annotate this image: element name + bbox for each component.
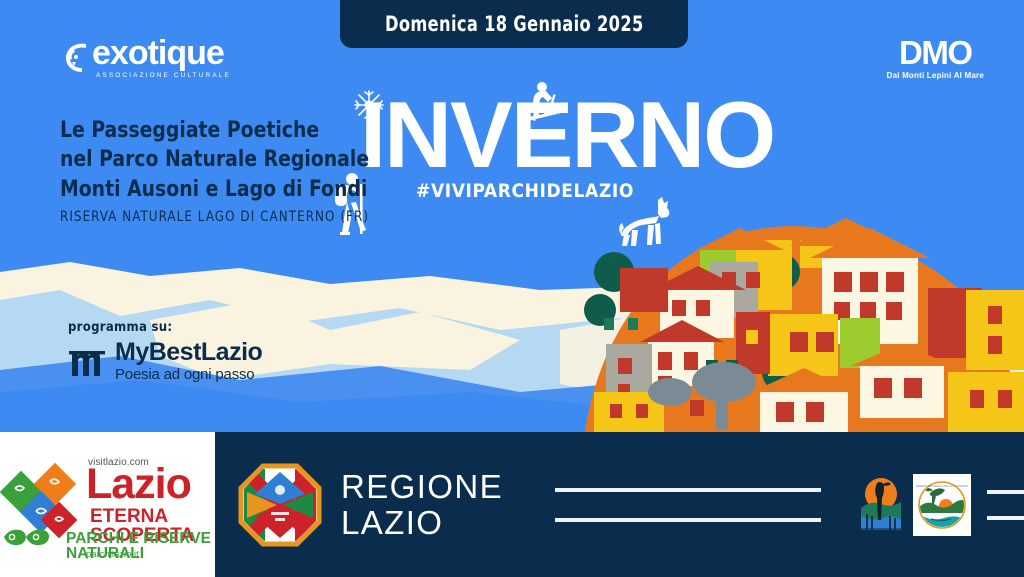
footer-park-logos: RISERVA NATURALE LAGO DI CANTERNO <box>859 472 1024 538</box>
poster-canvas: Domenica 18 Gennaio 2025 exotique ASSOCI… <box>0 0 1024 577</box>
footer-extra-lines <box>987 490 1024 520</box>
headline-subtitle: RISERVA NATURALE LAGO DI CANTERNO (FR) <box>60 209 376 225</box>
programma-label: programma su: <box>68 320 262 335</box>
exotique-logo[interactable]: exotique ASSOCIAZIONE CULTURALE <box>62 36 231 79</box>
footer-divider-line <box>987 516 1024 520</box>
regione-lazio-line-2: LAZIO <box>341 505 503 541</box>
regione-lazio-logo[interactable]: REGIONE LAZIO <box>237 462 503 548</box>
footer-divider-line <box>987 490 1024 494</box>
footer-divider-line <box>555 488 821 492</box>
riserva-lago-di-canterno-logo[interactable]: RISERVA NATURALE LAGO DI CANTERNO <box>913 474 971 536</box>
footer-left-panel: visitlazio.com Lazio ETERNA SCOPERTA PAR… <box>0 432 215 577</box>
footer: visitlazio.com Lazio ETERNA SCOPERTA PAR… <box>0 432 1024 577</box>
svg-text:RISERVA NATURALE LAGO DI CANTE: RISERVA NATURALE LAGO DI CANTERNO <box>916 484 968 488</box>
mybestlazio-name: MyBestLazio <box>115 340 262 365</box>
dmo-logo-word: DMO <box>887 36 984 69</box>
regione-lazio-emblem-icon <box>237 462 323 548</box>
lazio-name: Lazio <box>86 463 191 506</box>
headline-line-3: Monti Ausoni e Lago di Fondi <box>60 175 369 204</box>
lazio-tourism-logo[interactable]: visitlazio.com Lazio ETERNA SCOPERTA PAR… <box>0 451 215 559</box>
dmo-logo[interactable]: DMO Dai Monti Lepini Al Mare <box>887 36 984 80</box>
mybestlazio-mark-icon <box>68 342 108 382</box>
mybestlazio-tagline: Poesia ad ogni passo <box>115 366 262 384</box>
wolf-icon <box>618 196 676 248</box>
programma-block: programma su: MyBestLazio Poesia ad ogni… <box>68 320 262 384</box>
headline-line-1: Le Passeggiate Poetiche <box>60 116 369 145</box>
parco-monti-ausoni-lago-di-fondi-logo[interactable] <box>859 472 903 538</box>
headline-block: Le Passeggiate Poetiche nel Parco Natura… <box>60 116 392 225</box>
footer-right-panel: REGIONE LAZIO <box>215 432 1024 577</box>
exotique-face-icon <box>62 38 96 78</box>
footer-divider-lines <box>555 488 821 522</box>
headline-line-2: nel Parco Naturale Regionale <box>60 145 369 174</box>
date-badge: Domenica 18 Gennaio 2025 <box>340 0 688 48</box>
regione-lazio-line-1: REGIONE <box>341 469 503 505</box>
mybestlazio-logo[interactable]: MyBestLazio Poesia ad ogni passo <box>68 340 262 384</box>
date-badge-text: Domenica 18 Gennaio 2025 <box>385 12 644 36</box>
footer-divider-line <box>555 518 821 522</box>
skier-icon <box>512 80 570 128</box>
dmo-logo-subtitle: Dai Monti Lepini Al Mare <box>887 71 984 80</box>
lazio-parchi-site: parchilazio.it <box>86 549 139 560</box>
